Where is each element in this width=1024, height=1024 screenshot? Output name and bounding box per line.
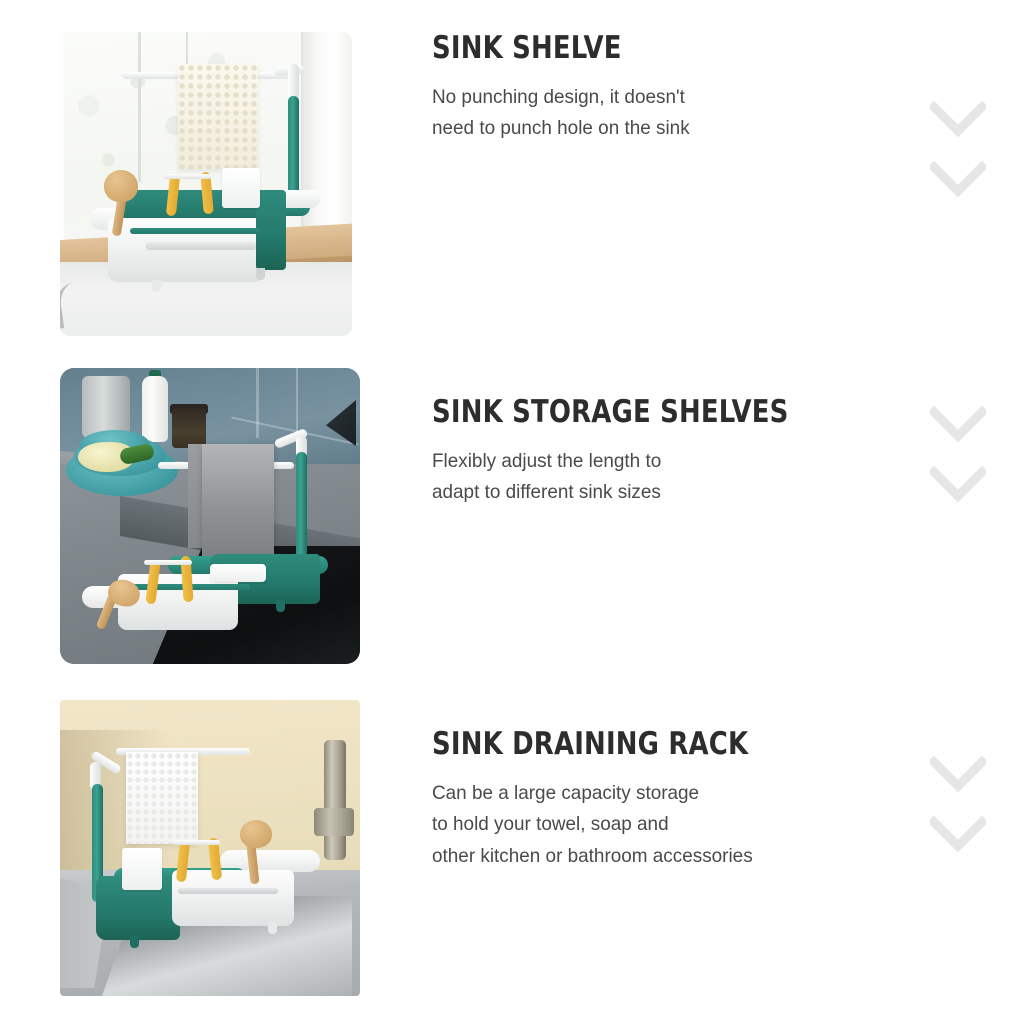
product-photo-3: [60, 700, 360, 996]
hanging-towel-2: [202, 444, 274, 558]
hook-crossbar-2: [144, 560, 192, 565]
chevron-group-2: [930, 405, 986, 503]
chevron-down-icon: [930, 160, 986, 198]
feature-text-1: SINK SHELVE No punching design, it doesn…: [432, 32, 912, 145]
feature-text-3: SINK DRAINING RACK Can be a large capaci…: [432, 728, 912, 872]
hanging-towel-1: [178, 64, 258, 169]
hook-crossbar-1: [164, 174, 212, 179]
brush-head-1: [104, 170, 138, 202]
feature-body-3: Can be a large capacity storage to hold …: [432, 778, 898, 873]
hanging-towel-3: [126, 752, 198, 844]
chevron-down-icon: [930, 405, 986, 443]
feature-body-3-line-2: to hold your towel, soap and: [432, 809, 898, 841]
chevron-down-icon: [930, 755, 986, 793]
basin-green-right-1: [256, 190, 286, 270]
feature-heading-3: SINK DRAINING RACK: [432, 728, 878, 761]
faucet-edge: [60, 279, 103, 329]
feature-heading-1: SINK SHELVE: [432, 32, 878, 65]
feature-heading-2: SINK STORAGE SHELVES: [432, 396, 878, 429]
plant-stem-decor: [138, 32, 141, 182]
rack-foot-right-1: [256, 268, 265, 280]
chevron-group-3: [930, 755, 986, 853]
feature-row-2: SINK STORAGE SHELVES Flexibly adjust the…: [0, 368, 1024, 664]
feature-row-3: SINK DRAINING RACK Can be a large capaci…: [0, 700, 1024, 996]
sponge-1: [222, 168, 260, 208]
feature-body-3-line-3: other kitchen or bathroom accessories: [432, 841, 898, 873]
feature-body-2-line-2: adapt to different sink sizes: [432, 477, 898, 509]
basin-slide-rail-3: [178, 888, 278, 894]
feature-text-2: SINK STORAGE SHELVES Flexibly adjust the…: [432, 396, 912, 509]
rack-foot-left-3: [130, 936, 139, 948]
sponge-3: [122, 848, 162, 890]
product-photo-2: [60, 368, 360, 664]
hook-crossbar-3: [174, 840, 220, 845]
chevron-group-1: [930, 100, 986, 198]
product-feature-infographic: SINK SHELVE No punching design, it doesn…: [0, 0, 1024, 1024]
basin-drawer-lip-1: [146, 242, 256, 250]
chevron-down-icon: [930, 815, 986, 853]
rack-foot-right-3: [268, 922, 277, 934]
vertical-post-green-2: [296, 452, 307, 564]
tile-grout-line: [256, 368, 259, 438]
feature-body-2-line-1: Flexibly adjust the length to: [432, 446, 898, 478]
basin-white-3: [172, 870, 294, 926]
faucet-base-3: [314, 808, 354, 836]
chevron-down-icon: [930, 100, 986, 138]
faucet-neck-3: [324, 740, 346, 860]
feature-body-1: No punching design, it doesn't need to p…: [432, 82, 898, 145]
sauce-jar-2: [172, 408, 206, 448]
feature-body-3-line-1: Can be a large capacity storage: [432, 778, 898, 810]
rack-foot-left-1: [152, 280, 161, 292]
basin-slide-rail-1: [130, 228, 260, 234]
sponge-2: [210, 564, 266, 582]
chevron-down-icon: [930, 465, 986, 503]
milk-bottle-2: [142, 376, 168, 442]
utensil-canister-2: [82, 376, 130, 438]
rack-foot-right-2: [276, 600, 285, 612]
feature-body-1-line-1: No punching design, it doesn't: [432, 82, 898, 114]
feature-body-1-line-2: need to punch hole on the sink: [432, 113, 898, 145]
feature-row-1: SINK SHELVE No punching design, it doesn…: [0, 32, 1024, 336]
brush-head-3: [240, 820, 272, 848]
feature-body-2: Flexibly adjust the length to adapt to d…: [432, 446, 898, 509]
product-photo-1: [60, 32, 352, 336]
